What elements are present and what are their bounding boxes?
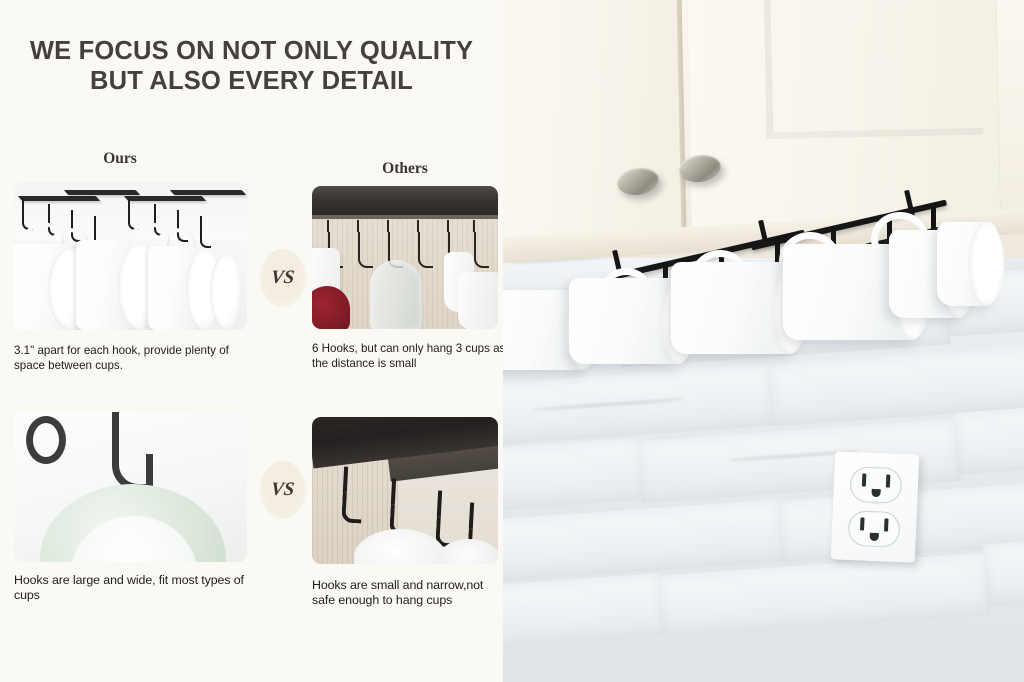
others-hook-size-photo xyxy=(312,417,498,564)
ours-spacing-photo xyxy=(14,182,247,330)
lifestyle-product-photo xyxy=(503,0,1024,682)
caption-others-hook-size: Hooks are small and narrow,not safe enou… xyxy=(312,578,508,608)
page-title: WE FOCUS ON NOT ONLY QUALITY BUT ALSO EV… xyxy=(0,36,503,96)
column-label-others: Others xyxy=(345,160,465,178)
vs-badge-row-1: VS xyxy=(260,249,306,307)
headline-line-2: BUT ALSO EVERY DETAIL xyxy=(0,66,503,96)
others-spacing-photo xyxy=(312,186,498,329)
vs-label: VS xyxy=(270,479,296,501)
column-label-ours: Ours xyxy=(60,150,180,168)
outlet-socket-top xyxy=(849,466,902,504)
caption-ours-hook-size: Hooks are large and wide, fit most types… xyxy=(14,573,264,603)
caption-others-spacing: 6 Hooks, but can only hang 3 cups as the… xyxy=(312,341,508,371)
ours-hook-size-photo xyxy=(14,412,247,562)
comparison-panel: WE FOCUS ON NOT ONLY QUALITY BUT ALSO EV… xyxy=(0,0,503,682)
headline-line-1: WE FOCUS ON NOT ONLY QUALITY xyxy=(30,37,473,65)
vs-badge-row-2: VS xyxy=(260,461,306,519)
vs-label: VS xyxy=(270,267,296,289)
product-comparison-infographic: WE FOCUS ON NOT ONLY QUALITY BUT ALSO EV… xyxy=(0,0,1024,682)
outlet-socket-bottom xyxy=(847,510,900,548)
caption-ours-spacing: 3.1" apart for each hook, provide plenty… xyxy=(14,343,254,373)
electrical-outlet xyxy=(831,451,919,562)
